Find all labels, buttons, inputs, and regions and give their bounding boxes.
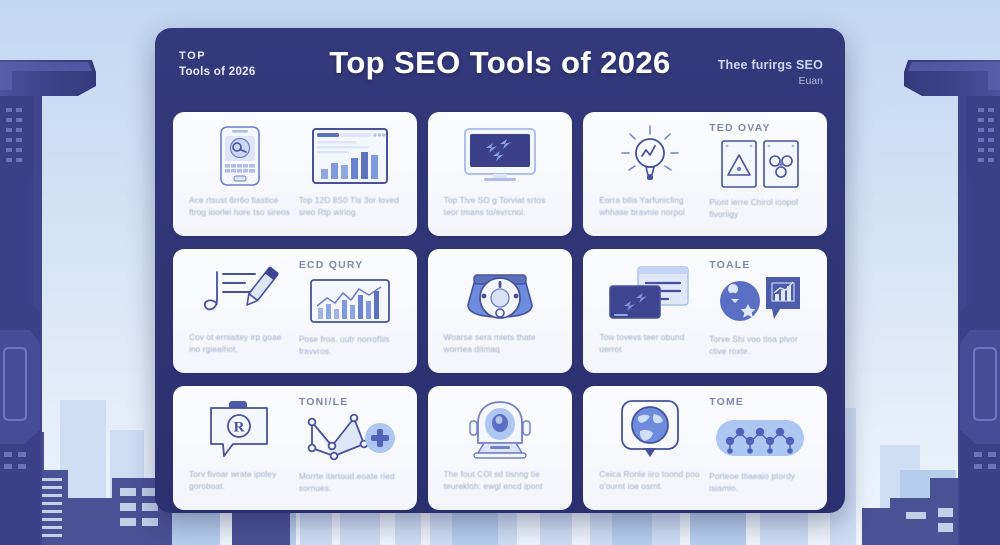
tool-cell-caption: Cov ot erniaitey irp goae ino rgieaihot. xyxy=(189,332,291,356)
svg-text:R: R xyxy=(233,420,244,436)
speech-bubble-registered-icon: R xyxy=(189,396,291,464)
tool-cell: ECD QURY Pose froa. uutr norrofliis frav… xyxy=(295,259,405,365)
tool-cell-title: TOALE xyxy=(709,259,750,271)
tool-card[interactable]: Cov ot erniaitey irp goae ino rgieaihot.… xyxy=(173,249,417,373)
network-graph-plus-icon xyxy=(299,410,401,466)
tool-cell: R Torv fivoar wrate ipoley goroboat. xyxy=(185,396,295,502)
molecule-network-icon xyxy=(709,410,811,466)
tool-card[interactable]: Woarse sera miets thate worrtea ditmaq xyxy=(428,249,573,373)
tool-cell-caption: Ceica Ronle iiro toond poo o'ournt ioe o… xyxy=(599,469,701,493)
location-pin-globe-icon xyxy=(599,396,701,464)
tool-cell: Ace rtsust 6rr6o fiastice ftrog ioorlei … xyxy=(185,122,295,228)
tool-cell: Top 12D 8S0 Tls 3or loved sreo Rtp wirio… xyxy=(295,122,405,228)
tool-cell-title: ECD QURY xyxy=(299,259,364,271)
tool-cell: Eorra bllis Yarfunicling whhase bravnie … xyxy=(595,122,705,228)
tool-cell-caption: The fout COl sd tisnng tie teurekloh: ew… xyxy=(444,469,557,493)
tool-cell-caption: Top 12D 8S0 Tls 3or loved sreo Rtp wirio… xyxy=(299,195,401,219)
panel-header: TOP Tools of 2026 Top SEO Tools of 2026 … xyxy=(155,28,845,106)
tablet-document-icon xyxy=(599,259,701,327)
tool-card[interactable]: Top Tive SO g Torviat srtos teor tmans t… xyxy=(428,112,573,236)
pencil-writing-icon xyxy=(189,259,291,327)
tool-card[interactable]: The fout COl sd tisnng tie teurekloh: ew… xyxy=(428,386,573,510)
browser-bar-chart-icon xyxy=(299,122,401,190)
tool-cell-caption: Top Tive SO g Torviat srtos teor tmans t… xyxy=(444,195,557,219)
tool-cell: TED OVAY Piont ierre Chirol ioopol fivor… xyxy=(705,122,815,228)
camera-dial-icon xyxy=(444,259,557,327)
desktop-monitor-icon xyxy=(444,122,557,190)
tool-cell-caption: Porteoe ttiaeaio ptordy isiamio. xyxy=(709,471,811,495)
smartphone-search-icon xyxy=(189,122,291,190)
tool-cell: Top Tive SO g Torviat srtos teor tmans t… xyxy=(440,122,561,228)
tool-cell-caption: Woarse sera miets thate worrtea ditmaq xyxy=(444,332,557,356)
tool-card[interactable]: Tow tovevs teer obund uerrotTOALE Torve … xyxy=(583,249,827,373)
tool-cell-caption: Piont ierre Chirol ioopol fivoriigy xyxy=(709,197,811,221)
tool-cell-title: TED OVAY xyxy=(709,122,771,134)
tool-cell-caption: Ace rtsust 6rr6o fiastice ftrog ioorlei … xyxy=(189,195,291,219)
tool-cell-caption: Torve Shi voo tloa plvor clive roxte. xyxy=(709,334,811,358)
tool-cell: Cov ot erniaitey irp goae ino rgieaihot. xyxy=(185,259,295,365)
header-subtitle-line1: Thee furirgs SEO xyxy=(718,58,823,72)
tool-cell-caption: Tow tovevs teer obund uerrot xyxy=(599,332,701,356)
tool-card[interactable]: R Torv fivoar wrate ipoley goroboat.TONI… xyxy=(173,386,417,510)
tool-cell: Ceica Ronle iiro toond poo o'ournt ioe o… xyxy=(595,396,705,502)
tool-card[interactable]: Ace rtsust 6rr6o fiastice ftrog ioorlei … xyxy=(173,112,417,236)
tool-cell: TONI/LE Morrte itartoud.eoate ried sornu… xyxy=(295,396,405,502)
chart-panel-icon xyxy=(299,273,401,329)
header-subtitle-line2: Euan xyxy=(718,75,823,87)
tools-grid: Ace rtsust 6rr6o fiastice ftrog ioorlei … xyxy=(173,112,827,510)
tool-cell: The fout COl sd tisnng tie teurekloh: ew… xyxy=(440,396,561,502)
tool-cell-title: TONI/LE xyxy=(299,396,349,408)
tool-cell: TOME Porteoe ttiaeaio ptordy isiamio. xyxy=(705,396,815,502)
badge-growth-icon xyxy=(709,273,811,329)
robot-head-icon xyxy=(444,396,557,464)
tool-cell-caption: Eorra bllis Yarfunicling whhase bravnie … xyxy=(599,195,701,219)
tool-cell-caption: Pose froa. uutr norrofliis fravvros. xyxy=(299,334,401,358)
tool-card[interactable]: Eorra bllis Yarfunicling whhase bravnie … xyxy=(583,112,827,236)
infographic-panel: TOP Tools of 2026 Top SEO Tools of 2026 … xyxy=(155,28,845,513)
tool-cell: TOALE Torve Shi voo tloa plvor clive rox… xyxy=(705,259,815,365)
tool-cell-caption: Morrte itartoud.eoate ried sornues. xyxy=(299,471,401,495)
tool-cell: Tow tovevs teer obund uerrot xyxy=(595,259,705,365)
tool-cell: Woarse sera miets thate worrtea ditmaq xyxy=(440,259,561,365)
tool-card[interactable]: Ceica Ronle iiro toond poo o'ournt ioe o… xyxy=(583,386,827,510)
tool-cell-caption: Torv fivoar wrate ipoley goroboat. xyxy=(189,469,291,493)
lightbulb-analytics-icon xyxy=(599,122,701,190)
header-subtitle: Thee furirgs SEO Euan xyxy=(718,58,823,87)
two-card-shapes-icon xyxy=(709,136,811,192)
tool-cell-title: TOME xyxy=(709,396,744,408)
